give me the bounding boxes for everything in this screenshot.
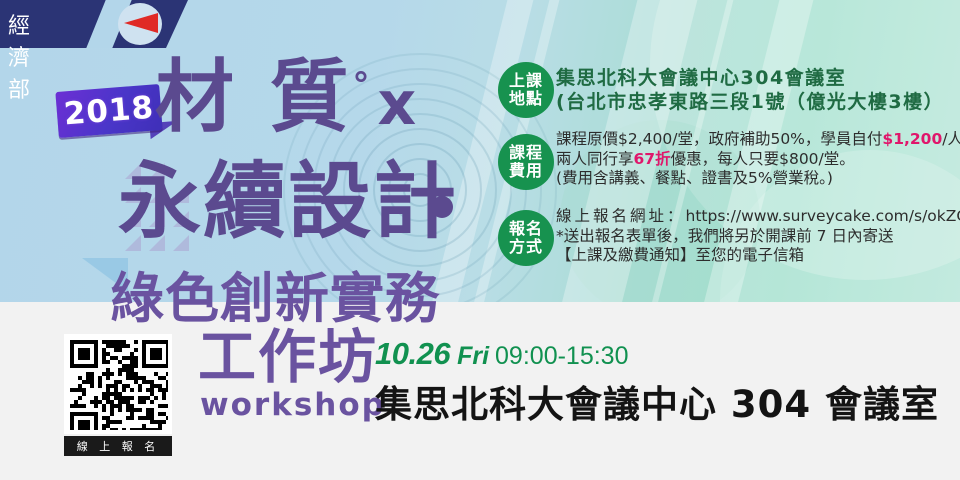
info-pill-location: 上課 地點 (498, 62, 554, 118)
info-text-registration: 線上報名網址：https://www.surveycake.com/s/okZG… (556, 207, 960, 266)
info-text-fee: 課程原價$2,400/堂，政府補助50%，學員自付$1,200/人。 兩人同行享… (556, 130, 960, 189)
qr-code-label: 線 上 報 名 (64, 436, 172, 456)
year-badge-label: 2018 (63, 90, 156, 133)
logo-ministry-text: 經濟部 (8, 8, 31, 104)
registration-url[interactable]: https://www.surveycake.com/s/okZGm (686, 207, 960, 225)
info-pill-registration-line2: 方式 (509, 238, 543, 256)
event-date: 10.26 (375, 336, 450, 371)
event-venue: 集思北科大會議中心 304 會議室 (375, 374, 939, 428)
fee-line-2-highlight: 67折 (634, 150, 671, 168)
title-line-2: 永續設計 (118, 160, 458, 243)
decor-dot (431, 196, 453, 218)
qr-code-icon[interactable] (64, 334, 172, 434)
info-pill-fee-line2: 費用 (509, 162, 543, 180)
info-pill-location-line1: 上課 (509, 72, 543, 90)
title-workshop-en: workshop (200, 387, 386, 423)
fee-line-1-post: /人。 (942, 130, 960, 148)
poster-root: 經濟部 2018 材 質°x 永續設計 綠色創新實務 工作坊 workshop … (0, 0, 960, 480)
fee-line-3: (費用含講義、餐點、證書及5%營業稅。) (556, 169, 960, 189)
event-date-block: 10.26Fri09:00-15:30 (375, 336, 628, 372)
fee-line-1-highlight: $1,200 (882, 130, 942, 148)
event-time: 09:00-15:30 (495, 342, 628, 370)
location-line-2: (台北市忠孝東路三段1號（億光大樓3樓） (556, 91, 944, 115)
info-pill-fee: 課程 費用 (498, 134, 554, 190)
info-pill-registration-line1: 報名 (509, 220, 543, 238)
red-arrow-icon (124, 13, 158, 33)
title-x-symbol: x (378, 69, 421, 139)
location-line-1: 集思北科大會議中心304會議室 (556, 67, 944, 91)
year-badge: 2018 (55, 84, 162, 138)
title-line-4: 工作坊 (198, 328, 378, 386)
registration-url-label: 線上報名網址： (556, 207, 686, 225)
info-pill-location-line2: 地點 (509, 90, 543, 108)
fee-line-1-pre: 課程原價$2,400/堂，政府補助50%，學員自付 (556, 130, 882, 148)
registration-line-3: 【上課及繳費通知】至您的電子信箱 (556, 246, 960, 266)
fee-line-2-post: 優惠，每人只要$800/堂。 (671, 150, 855, 168)
fee-line-2-pre: 兩人同行享 (556, 150, 634, 168)
title-line-1: 材 質°x (155, 58, 420, 137)
info-pill-fee-line1: 課程 (509, 144, 543, 162)
event-weekday: Fri (457, 342, 489, 370)
info-text-location: 集思北科大會議中心304會議室 (台北市忠孝東路三段1號（億光大樓3樓） (556, 67, 944, 115)
title-line-1-main: 材 質 (155, 51, 353, 143)
fee-line-2: 兩人同行享67折優惠，每人只要$800/堂。 (556, 150, 960, 170)
registration-line-2: *送出報名表單後，我們將另於開課前 7 日內寄送 (556, 227, 960, 247)
registration-line-1: 線上報名網址：https://www.surveycake.com/s/okZG… (556, 207, 960, 227)
info-pill-registration: 報名 方式 (498, 210, 554, 266)
fee-line-1: 課程原價$2,400/堂，政府補助50%，學員自付$1,200/人。 (556, 130, 960, 150)
title-line-3: 綠色創新實務 (110, 272, 440, 326)
degree-symbol: ° (353, 66, 374, 106)
